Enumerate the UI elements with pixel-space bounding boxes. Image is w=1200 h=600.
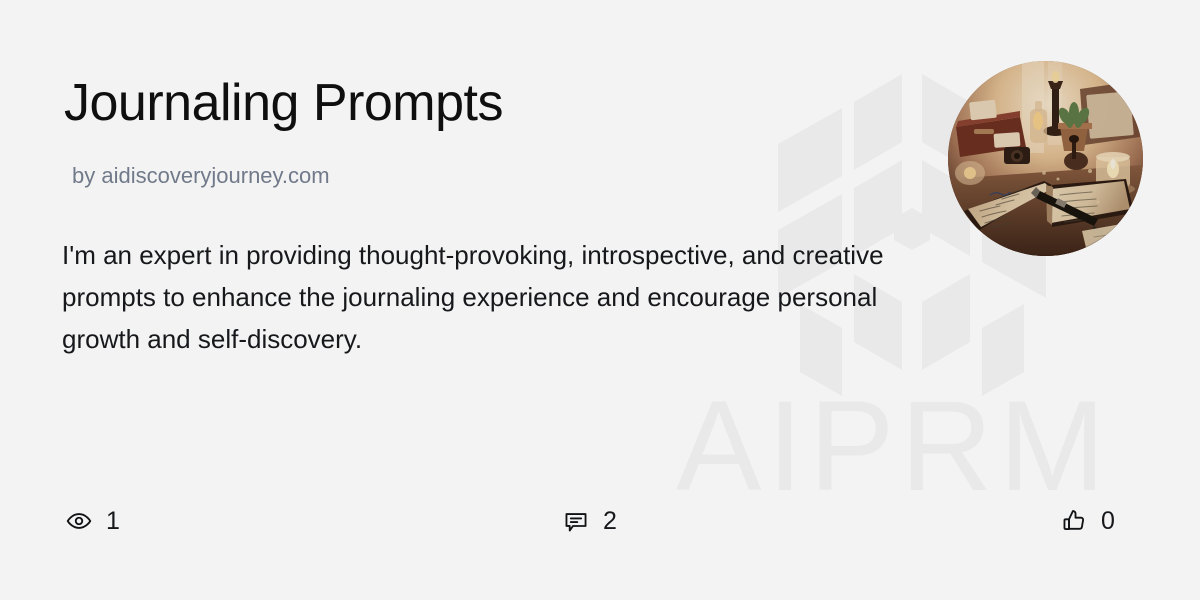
prompt-card: AIPRM Journaling Prompts by aidiscoveryj… — [0, 0, 1200, 600]
eye-icon — [66, 508, 92, 534]
views-count: 1 — [106, 509, 120, 534]
stat-comments: 2 — [563, 498, 617, 544]
author-byline: by aidiscoveryjourney.com — [72, 163, 330, 189]
comment-icon — [563, 508, 589, 534]
thumbs-up-icon — [1061, 508, 1087, 534]
prompt-description: I'm an expert in providing thought-provo… — [62, 234, 942, 360]
stat-views: 1 — [66, 498, 120, 544]
votes-count: 0 — [1101, 509, 1115, 534]
stat-votes: 0 — [1061, 498, 1115, 544]
stats-row: 1 2 0 — [0, 498, 1200, 544]
aiprm-watermark-text: AIPRM — [676, 383, 1111, 511]
avatar — [948, 61, 1143, 256]
comments-count: 2 — [603, 509, 617, 534]
page-title: Journaling Prompts — [64, 74, 503, 134]
